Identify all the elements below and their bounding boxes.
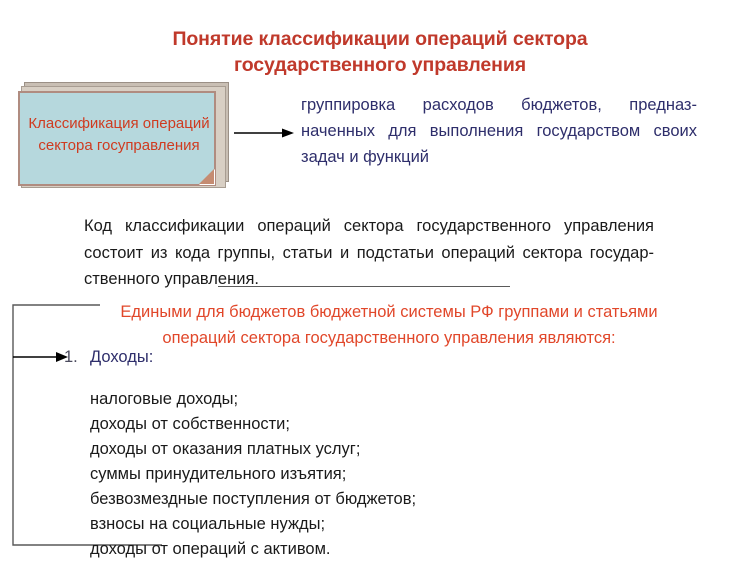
list-item: доходы от собственности; [90,412,610,437]
page-title: Понятие классификации операций сектора г… [150,26,610,79]
definition-text: группировка расходов бюджетов, предназ-н… [301,92,697,170]
folded-corner-fill-icon [199,169,214,184]
list-item: доходы от оказания платных услуг; [90,437,610,462]
income-items-list: налоговые доходы; доходы от собственност… [90,387,610,561]
list-item: безвозмездные поступления от бюджетов; [90,487,610,512]
group-number: 1. [64,348,78,367]
slide-canvas: Понятие классификации операций сектора г… [0,0,750,561]
code-paragraph: Код классификации операций сектора госуд… [84,213,654,293]
list-item: суммы принудительного изъятия; [90,462,610,487]
divider-rule [218,286,510,287]
unified-heading: Едиными для бюджетов бюджетной системы Р… [100,299,678,352]
list-item: налоговые доходы; [90,387,610,412]
concept-box-front: Классификация операций сектора госуправл… [18,91,216,186]
group-label: Доходы: [90,348,153,367]
list-item: взносы на социальные нужды; [90,512,610,537]
arrow-right-icon [234,126,294,140]
concept-box: Классификация операций сектора госуправл… [18,82,228,188]
list-item: доходы от операций с активом. [90,537,610,561]
concept-box-label: Классификация операций сектора госуправл… [20,113,218,157]
